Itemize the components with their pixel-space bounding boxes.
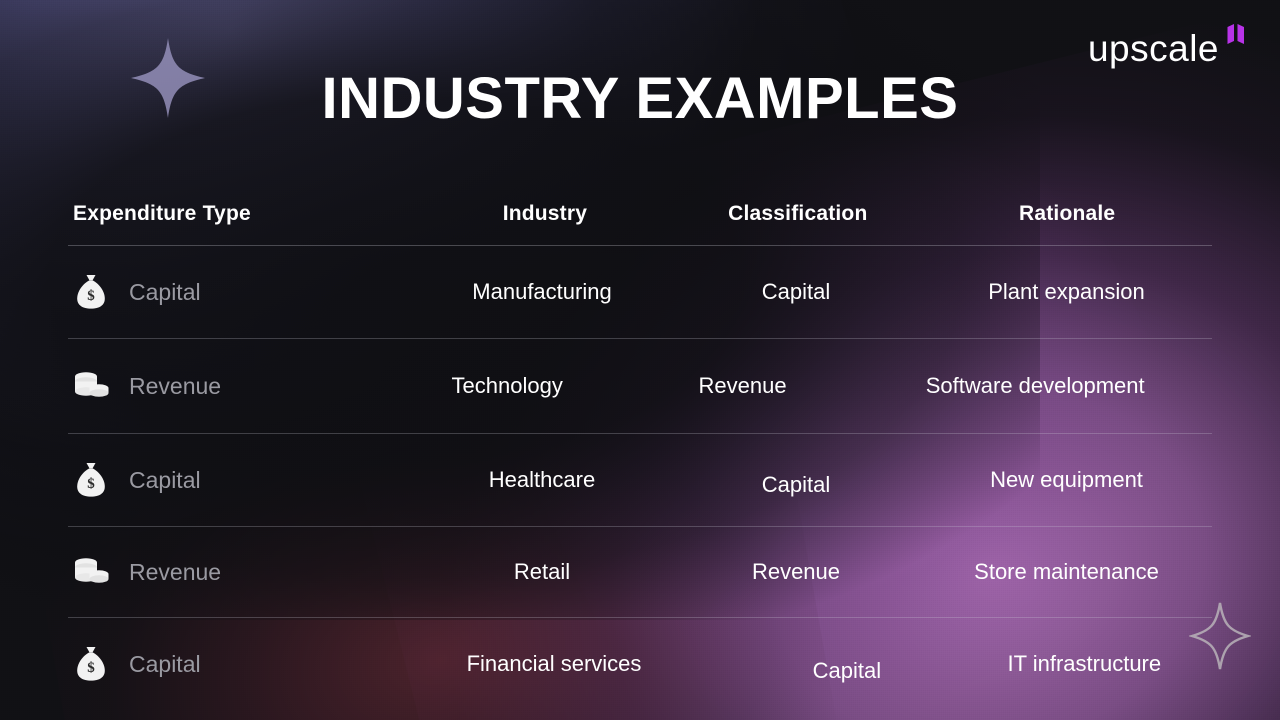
cell-expenditure-type: $ Capital	[68, 270, 413, 314]
column-header-rationale: Rationale	[922, 202, 1212, 226]
slide-root: upscale INDUSTRY EXAMPLES Expenditure Ty…	[0, 0, 1280, 720]
money-bag-icon: $	[69, 270, 113, 314]
brand-logo-text: upscale	[1088, 12, 1219, 67]
table-row: $ Capital Healthcare Capital New equipme…	[68, 434, 1212, 527]
cell-industry: Retail	[413, 559, 671, 586]
column-header-industry: Industry	[416, 202, 673, 226]
cell-rationale: Store maintenance	[921, 559, 1212, 586]
expenditure-type-label: Capital	[129, 279, 201, 306]
cell-industry: Financial services	[371, 651, 737, 678]
table-row: $ Capital Financial services Capital IT …	[68, 618, 1212, 710]
money-bag-icon: $	[69, 642, 113, 686]
cell-classification: Capital	[737, 644, 956, 685]
cell-classification: Capital	[671, 462, 921, 499]
cell-rationale: Plant expansion	[921, 279, 1212, 306]
upscale-logo-mark	[1222, 19, 1252, 54]
svg-text:$: $	[87, 660, 95, 676]
expenditure-type-label: Capital	[129, 467, 201, 494]
cell-industry: Technology	[388, 373, 627, 400]
cell-rationale: Software development	[858, 373, 1212, 400]
cell-industry: Manufacturing	[413, 279, 671, 306]
industry-examples-table: Expenditure Type Industry Classification…	[68, 183, 1212, 710]
coins-icon	[69, 364, 113, 408]
expenditure-type-label: Capital	[129, 651, 201, 678]
cell-expenditure-type: Revenue	[68, 550, 413, 594]
money-bag-icon: $	[69, 458, 113, 502]
cell-classification: Revenue	[671, 559, 921, 586]
page-title: INDUSTRY EXAMPLES	[0, 69, 1280, 130]
cell-expenditure-type: $ Capital	[68, 642, 371, 686]
coins-icon	[69, 550, 113, 594]
column-header-expenditure-type: Expenditure Type	[68, 202, 416, 226]
table-header-row: Expenditure Type Industry Classification…	[68, 183, 1212, 246]
cell-rationale: New equipment	[921, 467, 1212, 494]
svg-text:$: $	[87, 288, 95, 304]
svg-text:$: $	[87, 476, 95, 492]
table-row: Revenue Technology Revenue Software deve…	[68, 339, 1212, 434]
brand-logo[interactable]: upscale	[1088, 12, 1252, 67]
table-row: Revenue Retail Revenue Store maintenance	[68, 527, 1212, 618]
expenditure-type-label: Revenue	[129, 373, 221, 400]
table-row: $ Capital Manufacturing Capital Plant ex…	[68, 246, 1212, 339]
column-header-classification: Classification	[673, 202, 922, 226]
cell-classification: Revenue	[627, 373, 859, 400]
cell-classification: Capital	[671, 279, 921, 306]
cell-rationale: IT infrastructure	[957, 651, 1212, 678]
cell-expenditure-type: Revenue	[68, 364, 388, 408]
cell-industry: Healthcare	[413, 467, 671, 494]
expenditure-type-label: Revenue	[129, 559, 221, 586]
cell-expenditure-type: $ Capital	[68, 458, 413, 502]
